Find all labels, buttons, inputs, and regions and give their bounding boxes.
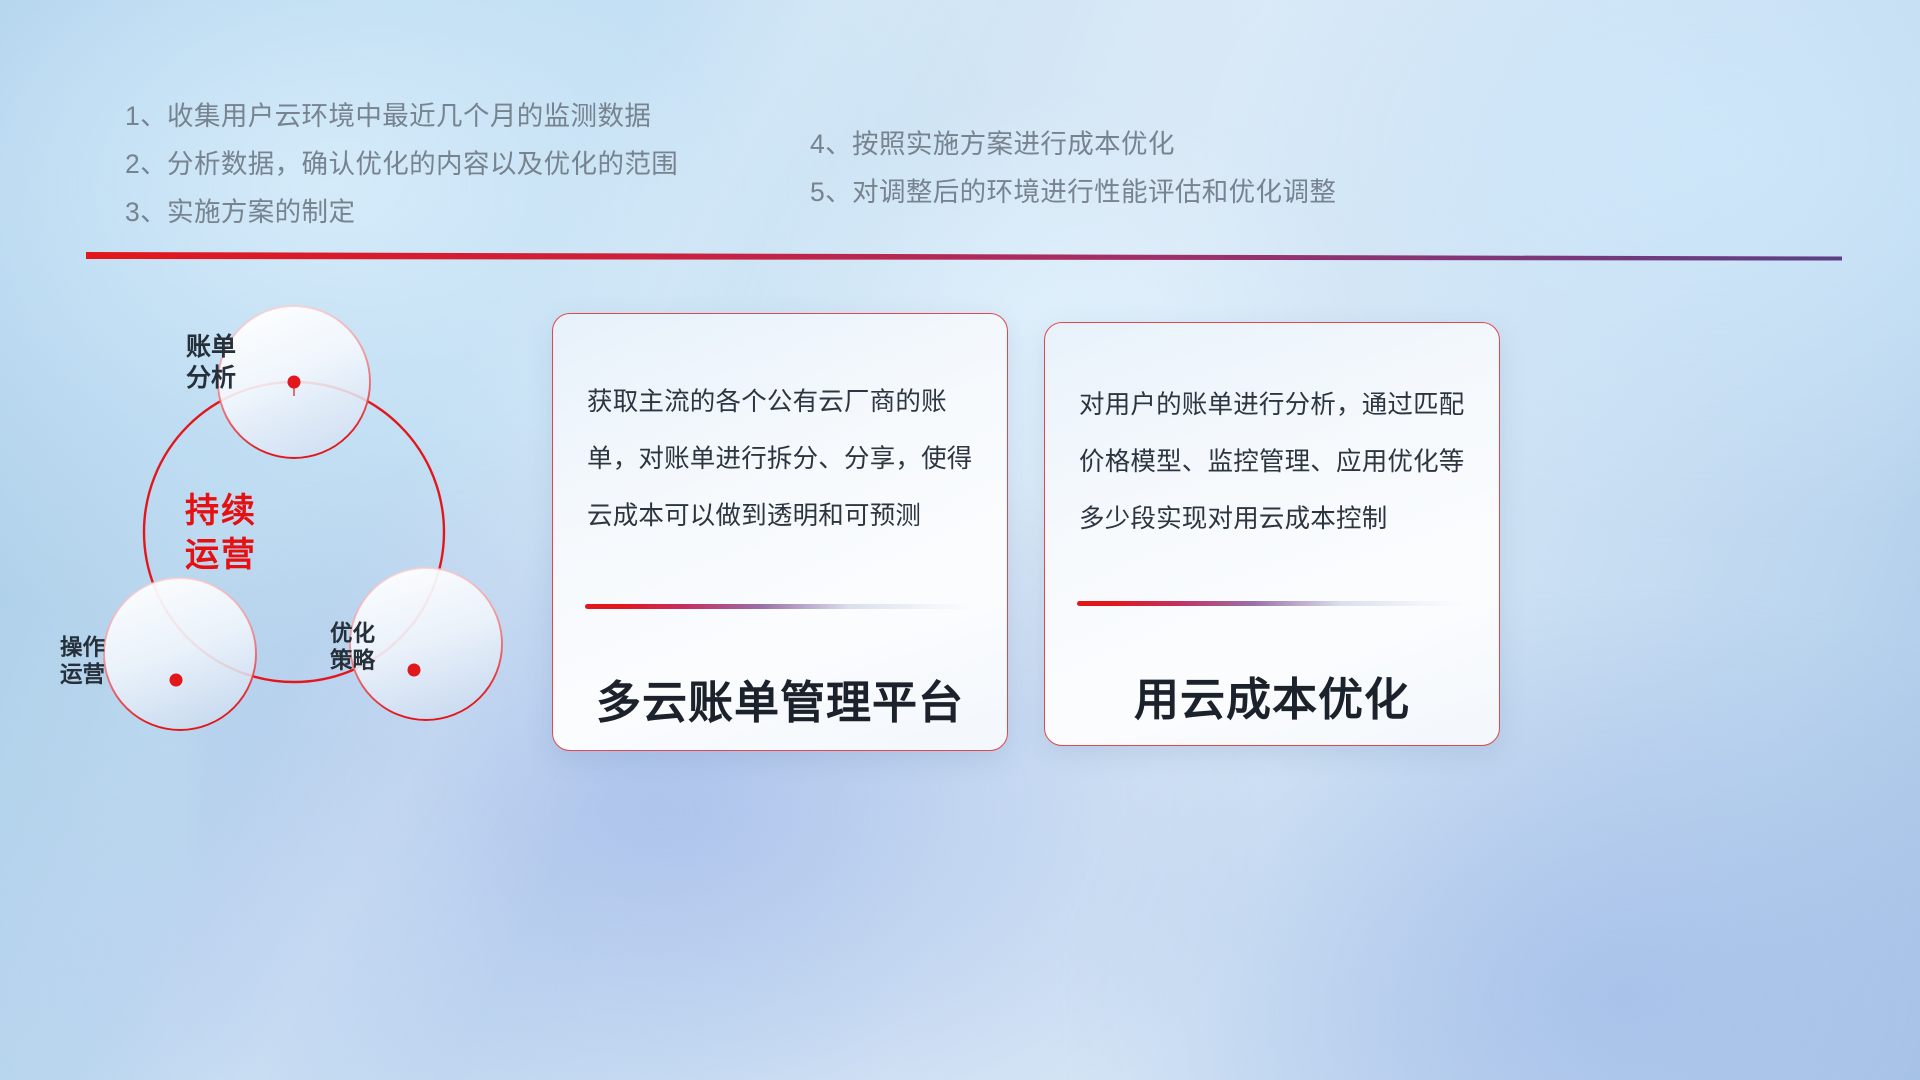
venn-label-center-line2: 运营 [185, 534, 257, 578]
process-step-item: 4、按照实施方案进行成本优化 [810, 120, 1336, 168]
feature-card-divider [1077, 601, 1465, 606]
venn-bubble-bottom-left [104, 578, 256, 730]
venn-label-br-line2: 策略 [330, 647, 375, 674]
feature-card-divider [585, 604, 973, 609]
venn-label-br-line1: 优化 [330, 620, 375, 647]
venn-label-top: 账单 分析 [186, 332, 236, 393]
venn-label-bottom-left: 操作 运营 [60, 634, 105, 689]
section-divider [86, 250, 1842, 264]
feature-card-body: 获取主流的各个公有云厂商的账单，对账单进行拆分、分享，使得云成本可以做到透明和可… [587, 374, 981, 545]
process-step-list-right: 4、按照实施方案进行成本优化 5、对调整后的环境进行性能评估和优化调整 [810, 120, 1336, 216]
process-step-item: 2、分析数据，确认优化的内容以及优化的范围 [125, 140, 678, 188]
process-step-item: 5、对调整后的环境进行性能评估和优化调整 [810, 168, 1336, 216]
venn-label-center: 持续 运营 [185, 490, 257, 577]
feature-card-body: 对用户的账单进行分析，通过匹配价格模型、监控管理、应用优化等多少段实现对用云成本… [1079, 377, 1473, 548]
process-step-list-left: 1、收集用户云环境中最近几个月的监测数据 2、分析数据，确认优化的内容以及优化的… [125, 92, 678, 236]
venn-label-bl-line2: 运营 [60, 661, 105, 688]
feature-card-bill-platform[interactable]: 获取主流的各个公有云厂商的账单，对账单进行拆分、分享，使得云成本可以做到透明和可… [552, 313, 1008, 751]
feature-card-cost-optimization[interactable]: 对用户的账单进行分析，通过匹配价格模型、监控管理、应用优化等多少段实现对用云成本… [1044, 322, 1500, 746]
process-step-item: 1、收集用户云环境中最近几个月的监测数据 [125, 92, 678, 140]
venn-label-top-line2: 分析 [186, 363, 236, 394]
venn-label-top-line1: 账单 [186, 332, 236, 363]
process-step-item: 3、实施方案的制定 [125, 188, 678, 236]
feature-card-title: 用云成本优化 [1045, 663, 1499, 728]
venn-diagram [76, 292, 546, 762]
feature-card-title: 多云账单管理平台 [553, 666, 1007, 731]
venn-label-bl-line1: 操作 [60, 634, 105, 661]
venn-label-bottom-right: 优化 策略 [330, 620, 375, 675]
venn-label-center-line1: 持续 [185, 490, 257, 534]
